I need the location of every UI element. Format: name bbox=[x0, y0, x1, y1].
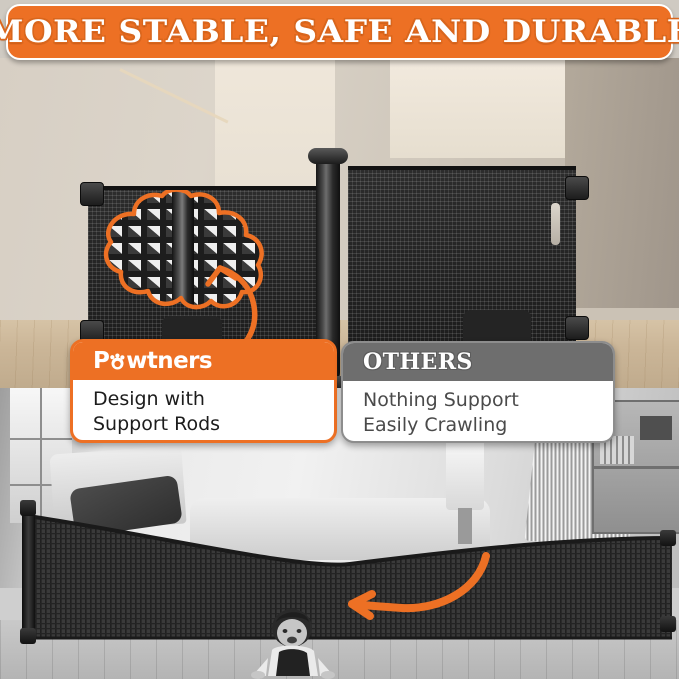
product-comparison-infographic: MORE STABLE, SAFE AND DURABLE Pwtners De… bbox=[0, 0, 679, 679]
gate-bracket-left-bottom bbox=[20, 628, 36, 644]
wall-bracket-bottom-right bbox=[565, 316, 589, 340]
gate-bracket-right-top bbox=[660, 530, 676, 546]
others-card-body: Nothing Support Easily Crawling bbox=[343, 381, 613, 438]
pawtners-line-2: Support Rods bbox=[93, 412, 334, 437]
others-line-1: Nothing Support bbox=[363, 388, 613, 413]
wall-bracket-top-right bbox=[565, 176, 589, 200]
comparison-card-pawtners: Pwtners Design with Support Rods bbox=[70, 339, 337, 443]
header-banner: MORE STABLE, SAFE AND DURABLE bbox=[6, 4, 673, 60]
others-card-header: OTHERS bbox=[343, 343, 613, 381]
logo-prefix: P bbox=[93, 348, 109, 374]
gap-pointer-arrow bbox=[290, 552, 490, 632]
comparison-card-others: OTHERS Nothing Support Easily Crawling bbox=[341, 341, 615, 443]
wall-panel-right bbox=[390, 58, 565, 158]
gate-post-left bbox=[22, 506, 35, 644]
gate-bracket-right-bottom bbox=[660, 616, 676, 632]
logo-suffix: wtners bbox=[126, 348, 212, 374]
others-line-2: Easily Crawling bbox=[363, 413, 613, 438]
gate-bracket-left-top bbox=[20, 500, 36, 516]
others-title: OTHERS bbox=[363, 349, 473, 375]
pawtners-line-1: Design with bbox=[93, 387, 334, 412]
pawtners-card-body: Design with Support Rods bbox=[73, 380, 334, 437]
pawtners-logo: Pwtners bbox=[93, 348, 212, 374]
paw-print-icon bbox=[109, 351, 126, 368]
gate-handle-strip bbox=[551, 203, 560, 245]
post-cap-top bbox=[308, 148, 348, 164]
banner-title: MORE STABLE, SAFE AND DURABLE bbox=[0, 14, 679, 50]
pawtners-card-header: Pwtners bbox=[73, 342, 334, 380]
